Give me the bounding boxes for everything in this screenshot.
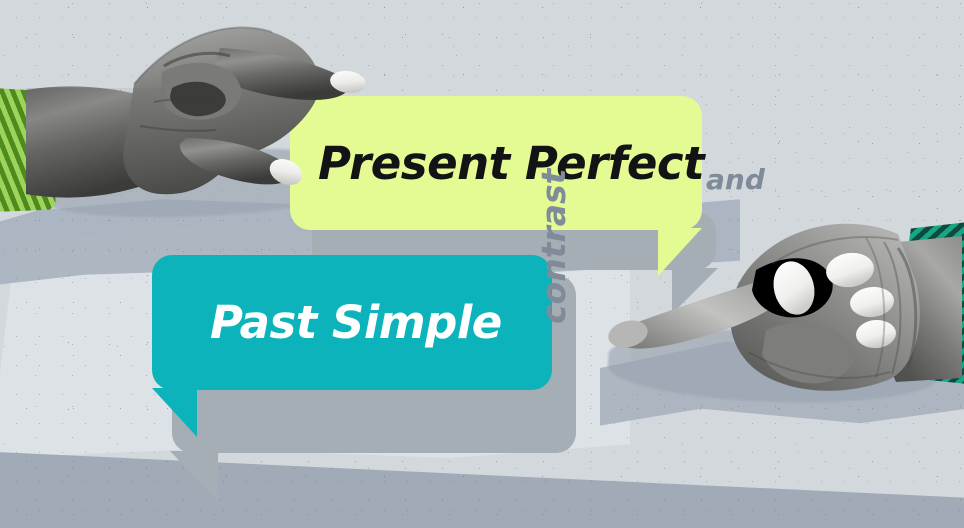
speech-bubble-tail-past-simple	[152, 388, 197, 437]
shadow-bubble-tail	[170, 451, 218, 501]
contrast-vertical-text: contrast	[534, 164, 573, 324]
pointing-hand-left-icon	[14, 6, 384, 218]
conjunction-and-text: and	[706, 163, 765, 196]
pointing-hand-right-icon	[598, 212, 964, 430]
speech-bubble-past-simple-label: Past Simple	[210, 296, 502, 349]
poster-canvas: Present Perfect Past Simple and contrast	[0, 0, 964, 528]
speech-bubble-past-simple[interactable]: Past Simple	[152, 255, 552, 390]
